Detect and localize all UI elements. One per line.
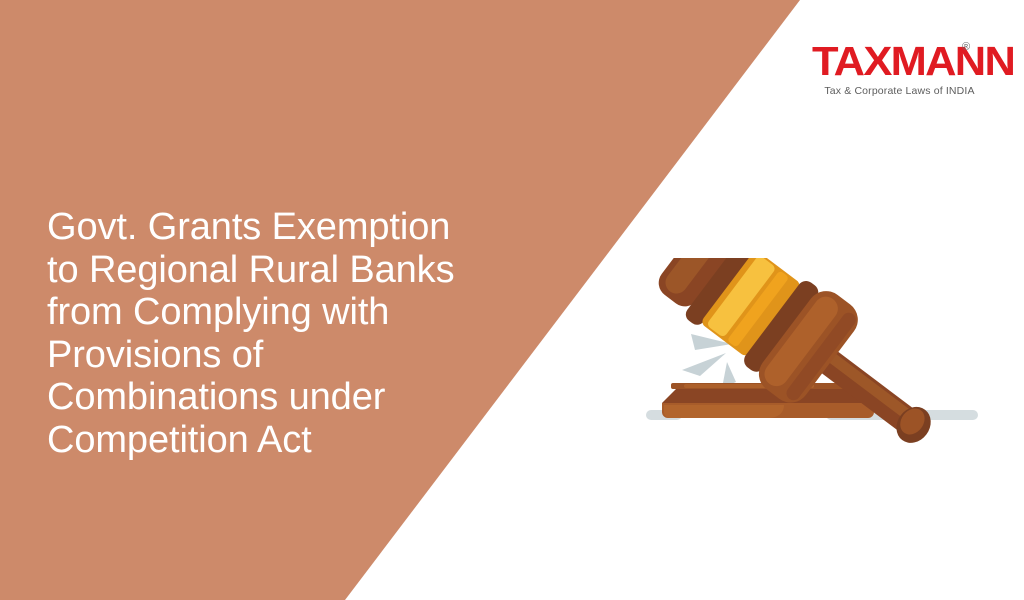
gavel-body [644,258,961,450]
news-banner: Govt. Grants Exemption to Regional Rural… [0,0,1024,600]
page-title: Govt. Grants Exemption to Regional Rural… [47,206,497,461]
taxmann-logo[interactable]: TAXMANN ® Tax & Corporate Laws of INDIA [812,40,987,102]
judge-gavel-illustration [640,258,988,450]
logo-tagline: Tax & Corporate Laws of INDIA [812,85,987,97]
gavel-svg [640,258,988,450]
registered-trademark-icon: ® [962,41,970,53]
